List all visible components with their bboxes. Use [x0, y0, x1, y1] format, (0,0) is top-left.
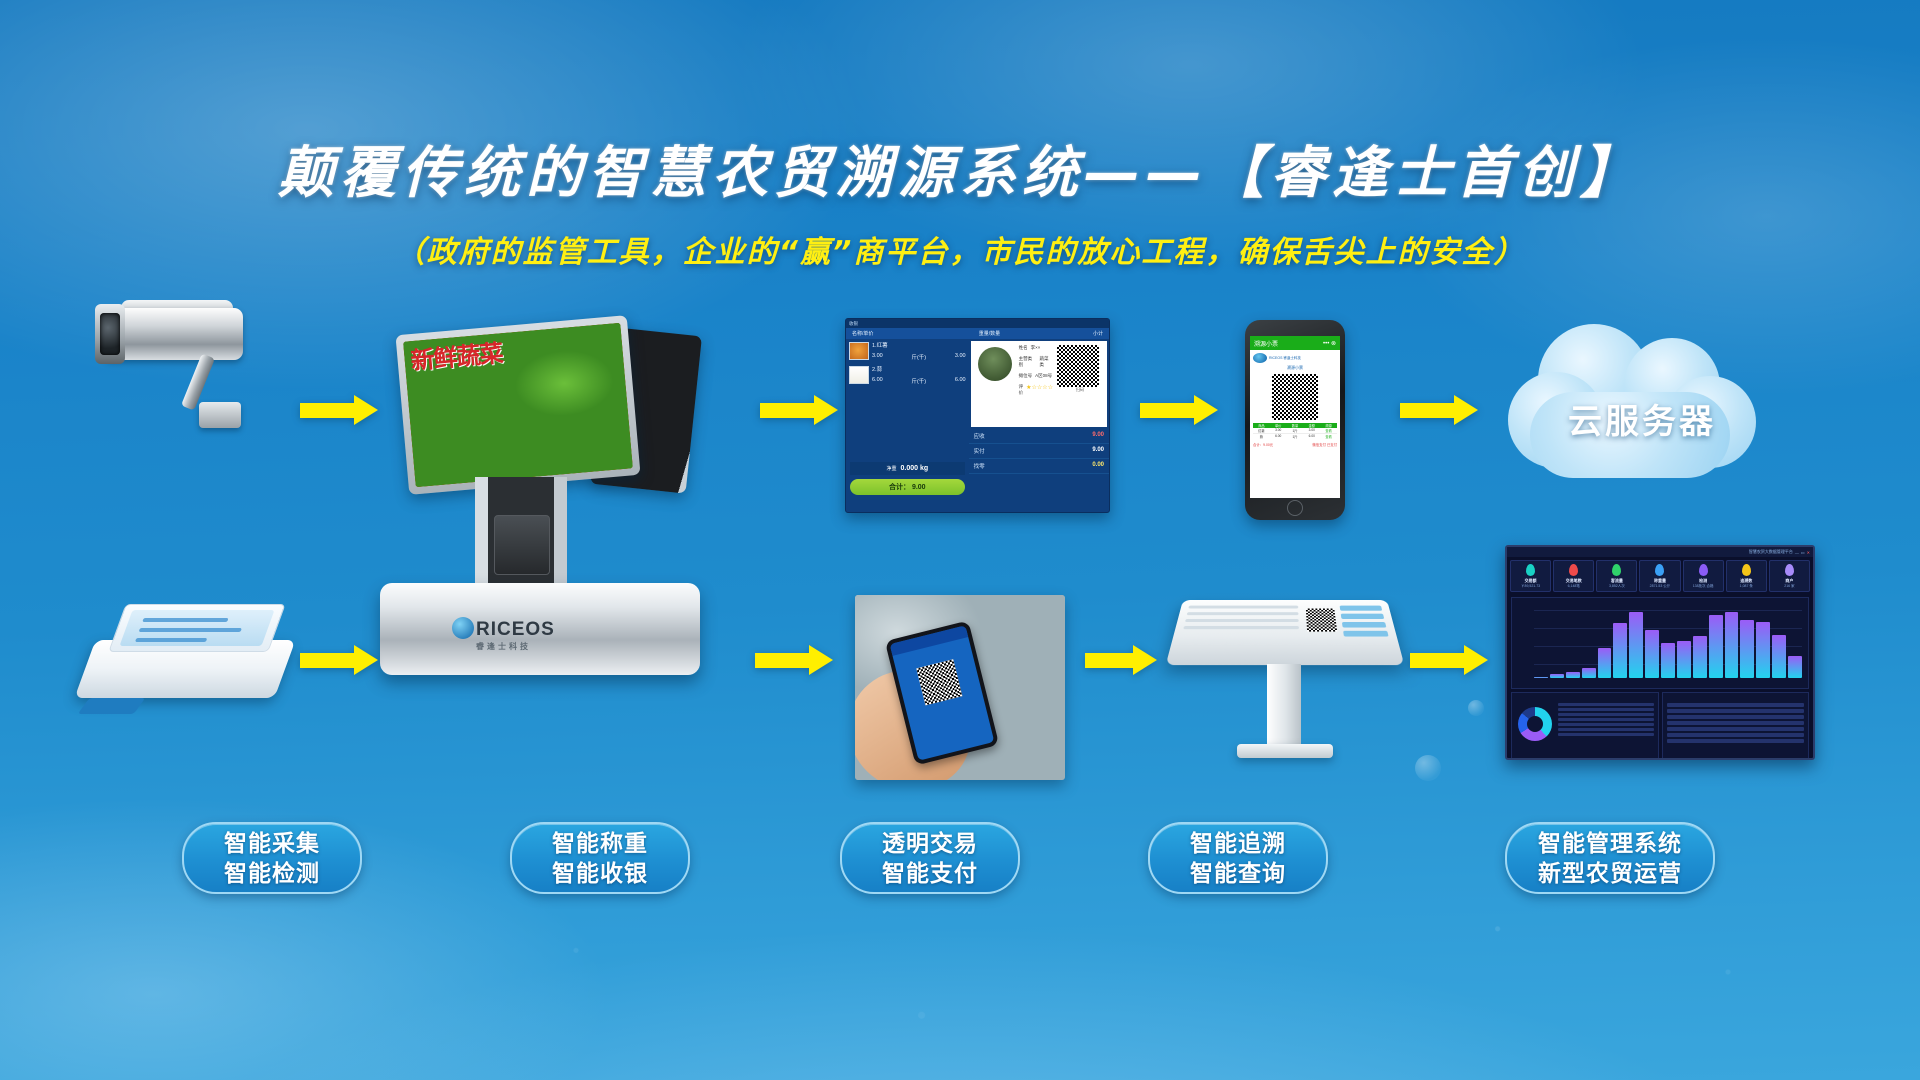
brand-mark-icon [452, 617, 474, 639]
flow-label-4-line2: 智能查询 [1190, 858, 1286, 888]
kpi-card-2[interactable]: 客流量3,852人次 [1596, 560, 1637, 592]
dashboard-window-title: 智慧农贸大数据管理平台 [1749, 549, 1793, 555]
brand-sub: 睿逢士科技 [476, 641, 555, 652]
kiosk-base [1237, 744, 1333, 758]
flow-arrow-7 [1085, 645, 1157, 675]
management-dashboard-screen: 智慧农贸大数据管理平台 — ▭ ✕ 交易额￥89,521.73交易笔数6,148… [1505, 545, 1815, 760]
chart-bar [1566, 672, 1580, 678]
kpi-card-6[interactable]: 商户216 家 [1769, 560, 1810, 592]
page-subtitle: （政府的监管工具，企业的“赢”商平台，市民的放心工程，确保舌尖上的安全） [0, 227, 1920, 271]
mobile-receipt-phone: 溯源小票 ••• ⊗ RICEOS 睿逢士科技 溯源小票 商品 单价 数量 金额… [1245, 320, 1345, 520]
brand-name: RICEOS 睿逢士科技 [1269, 356, 1301, 361]
total-amount-button[interactable]: 合计： 9.00 [850, 479, 965, 495]
kpi-icon [1699, 564, 1708, 576]
amount-row: 找零0.00 [969, 459, 1109, 474]
kpi-card-0[interactable]: 交易额￥89,521.73 [1510, 560, 1551, 592]
recent-trace-panel [1662, 692, 1810, 760]
detector-brand-badge [78, 698, 146, 714]
maximize-icon[interactable]: ▭ [1801, 550, 1805, 555]
flow-arrow-8 [1410, 645, 1488, 675]
flow-label-1-line1: 智能采集 [224, 828, 320, 858]
receipt-total: 合计：9.00元 [1253, 442, 1273, 447]
detector-lid [108, 604, 285, 652]
vendor-info-panel: 姓名李×× 主营类别蔬菜类 摊位号A区08号 评价★☆☆☆☆ 扫码 应收9.00… [969, 339, 1109, 499]
receipt-row: 蒜 6.00 1斤 6.00 查看 [1253, 434, 1337, 439]
flow-label-3-line1: 透明交易 [882, 828, 978, 858]
item-thumbnail [849, 342, 869, 360]
qr-caption: 扫码 [1057, 387, 1103, 393]
flow-label-1-line2: 智能检测 [224, 858, 320, 888]
flow-arrow-2 [760, 395, 838, 425]
bubble-decor [1415, 755, 1441, 781]
pos-scale-device: 新鲜蔬菜 RICEOS 睿逢士科技 [380, 325, 710, 705]
amount-row: 应收9.00 [969, 429, 1109, 444]
page-title: 颠覆传统的智慧农贸溯源系统——【睿逢士首创】 [0, 128, 1920, 209]
vegetable-ad-image: 新鲜蔬菜 [403, 323, 633, 487]
detector-screen [119, 610, 274, 646]
cloud-server-icon: 云服务器 [1508, 320, 1776, 490]
flow-arrow-3 [1140, 395, 1218, 425]
minimize-icon[interactable]: — [1795, 550, 1799, 555]
poster-heading-block: 颠覆传统的智慧农贸溯源系统——【睿逢士首创】 （政府的监管工具，企业的“赢”商平… [0, 128, 1920, 271]
kpi-icon [1785, 564, 1794, 576]
vendor-avatar [978, 347, 1012, 381]
kpi-card-3[interactable]: 称重量2871.53 公斤 [1639, 560, 1680, 592]
kpi-value: 138批次,合格 [1693, 584, 1714, 589]
kpi-value: 216 家 [1784, 584, 1794, 589]
home-button-icon[interactable] [1287, 500, 1303, 516]
kpi-icon [1526, 564, 1535, 576]
txn-column-header: 名称/单价 重量/数量 小计 [846, 328, 1109, 339]
flow-label-3[interactable]: 透明交易 智能支付 [840, 822, 1020, 894]
surveillance-camera-icon [95, 290, 285, 440]
phone-screen: 溯源小票 ••• ⊗ RICEOS 睿逢士科技 溯源小票 商品 单价 数量 金额… [1250, 336, 1340, 498]
brand-mark-icon [1253, 353, 1267, 363]
kpi-card-5[interactable]: 追溯数1,087 条 [1726, 560, 1767, 592]
flow-arrow-1 [300, 395, 378, 425]
chart-bar [1550, 674, 1564, 678]
chart-bar [1582, 668, 1596, 678]
kpi-icon [1569, 564, 1578, 576]
category-list [1558, 703, 1654, 755]
receipt-pay-status: 微信支付 已支付 [1312, 442, 1337, 447]
app-bar-title: 溯源小票 [1254, 339, 1278, 348]
kiosk-stand [1267, 664, 1301, 748]
chart-bar [1661, 643, 1675, 678]
kpi-card-4[interactable]: 检测138批次,合格 [1683, 560, 1724, 592]
flow-label-4[interactable]: 智能追溯 智能查询 [1148, 822, 1328, 894]
flow-arrow-4 [1400, 395, 1478, 425]
flow-label-2[interactable]: 智能称重 智能收银 [510, 822, 690, 894]
chart-bar [1677, 641, 1691, 678]
app-bar-actions[interactable]: ••• ⊗ [1323, 340, 1336, 347]
chart-bar [1740, 620, 1754, 678]
kpi-value: 6,148笔 [1568, 584, 1580, 589]
brand-name: RICEOS 睿逢士科技 [476, 619, 555, 652]
amount-row: 实付9.00 [969, 444, 1109, 459]
weighing-plate: RICEOS 睿逢士科技 [380, 583, 700, 675]
camera-lens [95, 304, 125, 364]
category-donut-panel [1511, 692, 1659, 760]
flow-label-2-line1: 智能称重 [552, 828, 648, 858]
kpi-icon [1612, 564, 1621, 576]
receipt-printer [494, 515, 550, 575]
flow-label-3-line2: 智能支付 [882, 858, 978, 888]
chart-bar [1645, 630, 1659, 678]
bubble-decor [1468, 700, 1484, 716]
txn-item-list: 1.红薯 3.00 斤(千) 3.00 2.蒜 6.00 斤(千) 6.00 [846, 339, 969, 499]
txn-row: 2.蒜 6.00 斤(千) 6.00 [846, 363, 969, 387]
kpi-icon [1742, 564, 1751, 576]
app-bar: 溯源小票 ••• ⊗ [1250, 336, 1340, 350]
chart-bar [1629, 612, 1643, 678]
flow-arrow-5 [300, 645, 378, 675]
self-service-query-kiosk [1175, 590, 1395, 780]
chart-bar [1772, 635, 1786, 678]
kiosk-touch-panel[interactable] [1166, 600, 1405, 665]
chart-bar [1613, 623, 1627, 678]
receipt-title: 溯源小票 [1253, 365, 1337, 371]
flow-label-4-line1: 智能追溯 [1190, 828, 1286, 858]
trace-record-list [1667, 703, 1805, 755]
kiosk-qr-code [1306, 609, 1337, 632]
flow-label-1[interactable]: 智能采集 智能检测 [182, 822, 362, 894]
chart-bar [1788, 656, 1802, 678]
flow-label-5[interactable]: 智能管理系统 新型农贸运营 [1505, 822, 1715, 894]
chart-bar [1756, 622, 1770, 678]
kpi-card-1[interactable]: 交易笔数6,148笔 [1553, 560, 1594, 592]
flow-label-5-line1: 智能管理系统 [1538, 828, 1682, 858]
txn-titlebar: 收银 [846, 319, 1109, 328]
chart-bar [1709, 615, 1723, 678]
trace-qr-code [1057, 345, 1099, 387]
kpi-value: ￥89,521.73 [1521, 584, 1540, 589]
ad-text: 新鲜蔬菜 [410, 343, 504, 374]
chart-bar [1534, 677, 1548, 678]
cashier-transaction-screen: 收银 名称/单价 重量/数量 小计 1.红薯 3.00 斤(千) 3.00 [845, 318, 1110, 513]
flow-label-5-line2: 新型农贸运营 [1538, 858, 1682, 888]
pesticide-detector-device [85, 600, 300, 710]
chart-bar [1693, 636, 1707, 678]
pos-main-screen: 新鲜蔬菜 [395, 315, 640, 495]
chart-bar [1725, 612, 1739, 678]
scan-to-pay-photo [855, 595, 1065, 780]
chart-bar [1598, 648, 1612, 678]
flow-label-2-line2: 智能收银 [552, 858, 648, 888]
kpi-value: 2871.53 公斤 [1650, 584, 1671, 589]
kpi-card-row: 交易额￥89,521.73交易笔数6,148笔客流量3,852人次称重量2871… [1507, 557, 1813, 595]
cloud-server-label: 云服务器 [1508, 394, 1776, 443]
transaction-bar-chart [1511, 597, 1809, 689]
donut-chart [1518, 707, 1552, 741]
flow-arrow-6 [755, 645, 833, 675]
net-weight-display: 净重 0.000 kg [850, 462, 965, 475]
kpi-value: 1,087 条 [1740, 584, 1753, 589]
receipt-qr-code [1272, 374, 1318, 420]
txn-row: 1.红薯 3.00 斤(千) 3.00 [846, 339, 969, 363]
kpi-icon [1655, 564, 1664, 576]
kpi-value: 3,852人次 [1609, 584, 1625, 589]
camera-mount [199, 402, 241, 428]
close-icon[interactable]: ✕ [1807, 550, 1810, 555]
dashboard-titlebar: 智慧农贸大数据管理平台 — ▭ ✕ [1507, 547, 1813, 557]
txn-window-title: 收银 [849, 321, 858, 327]
item-thumbnail [849, 366, 869, 384]
